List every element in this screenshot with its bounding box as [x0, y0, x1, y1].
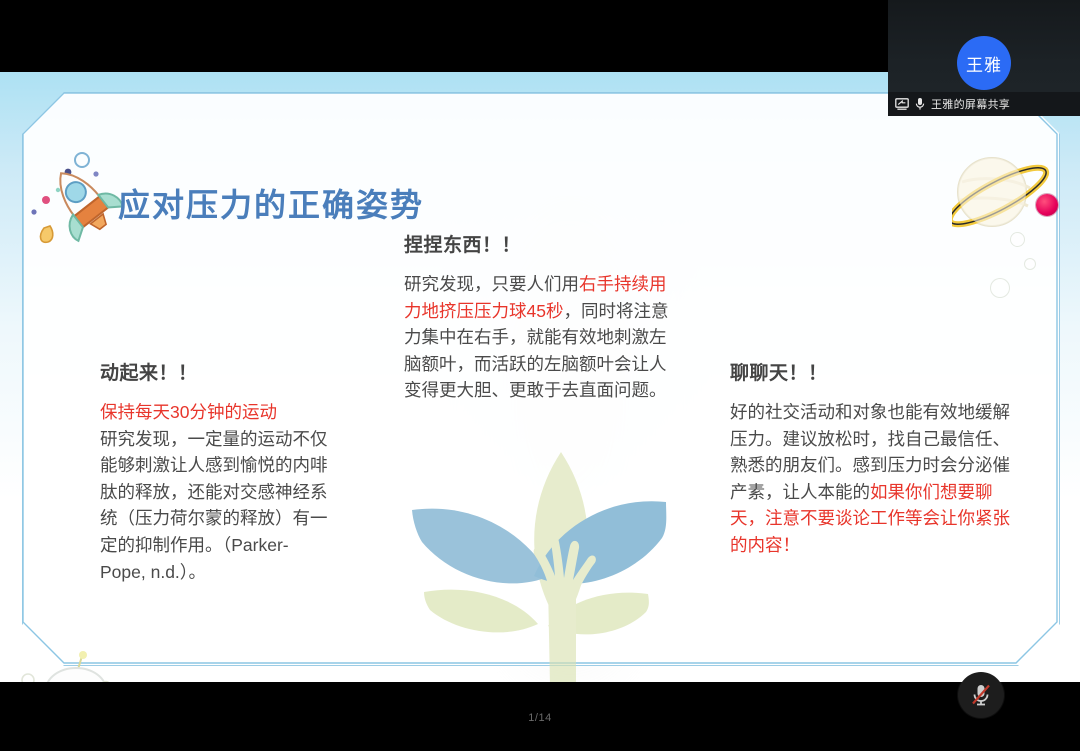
bubble-decor-3	[990, 278, 1010, 298]
avatar: 王雅	[957, 36, 1011, 90]
bubble-decor-2	[1024, 258, 1036, 270]
column-body: 保持每天30分钟的运动研究发现，一定量的运动不仅能够刺激让人感到愉悦的内啡肽的释…	[100, 399, 332, 585]
tile-label-bar: 王雅的屏幕共享	[888, 92, 1080, 116]
column-body: 好的社交活动和对象也能有效地缓解压力。建议放松时，找自己最信任、熟悉的朋友们。感…	[730, 399, 1012, 559]
slide-column-move: 动起来！！ 保持每天30分钟的运动研究发现，一定量的运动不仅能够刺激让人感到愉悦…	[100, 358, 332, 585]
slide-column-chat: 聊聊天！！ 好的社交活动和对象也能有效地缓解压力。建议放松时，找自己最信任、熟悉…	[730, 358, 1012, 559]
column-heading: 动起来！！	[100, 358, 332, 385]
column-body: 研究发现，只要人们用右手持续用力地挤压压力球45秒，同时将注意力集中在右手，就能…	[404, 271, 680, 404]
page-indicator: 1/14	[0, 712, 1080, 724]
bubble-decor-1	[1010, 232, 1025, 247]
column-heading: 聊聊天！！	[730, 358, 1012, 385]
body-text: 研究发现，只要人们用	[404, 274, 579, 294]
slide-title: 应对压力的正确姿势	[118, 180, 424, 226]
microphone-muted-icon	[970, 683, 992, 707]
slide-column-squeeze: 捏捏东西！！ 研究发现，只要人们用右手持续用力地挤压压力球45秒，同时将注意力集…	[404, 230, 680, 404]
red-planet-dot-icon	[1036, 194, 1058, 216]
rocket-illustration-icon	[24, 150, 132, 246]
participant-video-tile[interactable]: 王雅 王雅的屏幕共享	[888, 0, 1080, 116]
screen-share-icon	[895, 98, 909, 110]
share-label: 王雅的屏幕共享	[931, 96, 1010, 112]
highlighted-text: 保持每天30分钟的运动	[100, 402, 277, 422]
screen-share-stage: 应对压力的正确姿势 动起来！！ 保持每天30分钟的运动研究发现，一定量的运动不仅…	[0, 0, 1080, 751]
ufo-illustration-icon	[14, 650, 144, 682]
microphone-icon	[915, 97, 925, 111]
body-text: 研究发现，一定量的运动不仅能够刺激让人感到愉悦的内啡肽的释放，还能对交感神经系统…	[100, 429, 328, 582]
mute-toggle-button[interactable]	[958, 672, 1004, 718]
column-heading: 捏捏东西！！	[404, 230, 680, 257]
plant-watermark-icon	[398, 444, 724, 682]
presentation-slide: 应对压力的正确姿势 动起来！！ 保持每天30分钟的运动研究发现，一定量的运动不仅…	[0, 72, 1080, 682]
